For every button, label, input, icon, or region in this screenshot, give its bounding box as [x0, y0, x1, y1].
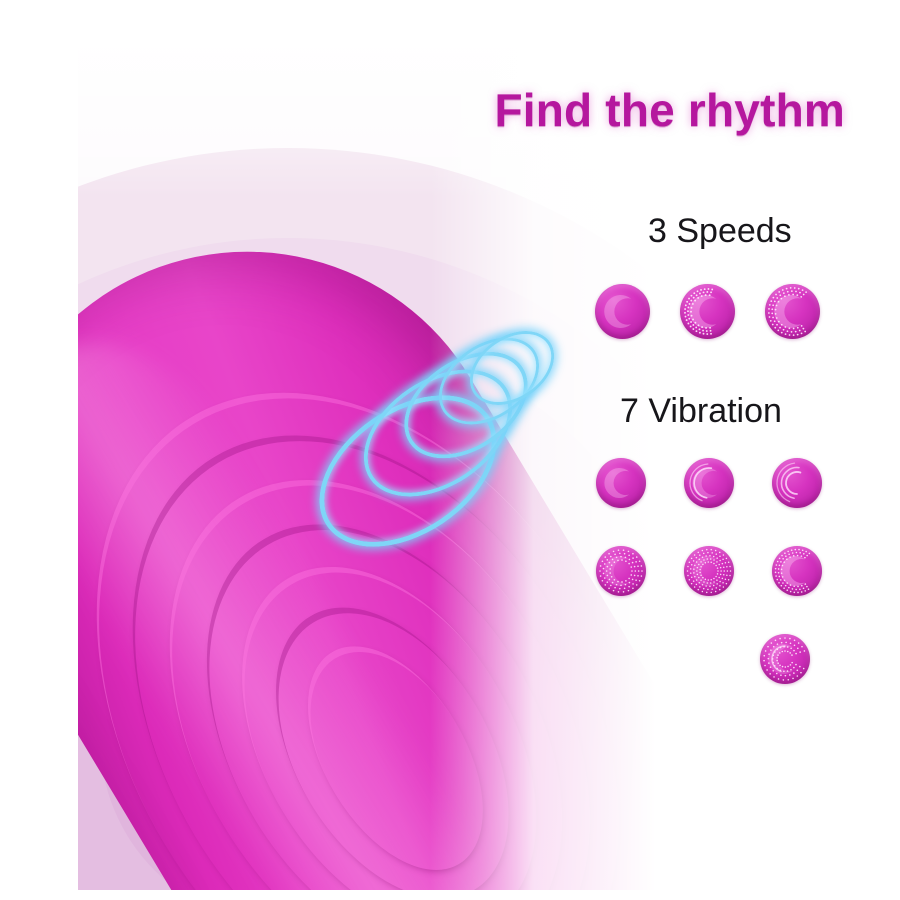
- vibration-icon-row-2: [596, 546, 822, 596]
- speed-level-2-icon[interactable]: [680, 284, 735, 339]
- speed-level-1-icon[interactable]: [595, 284, 650, 339]
- product-feature-image: Find the rhythm 3 Speeds 7 Vibration: [0, 0, 900, 900]
- vibration-mode-1-icon[interactable]: [596, 458, 646, 508]
- vibration-label: 7 Vibration: [620, 392, 782, 431]
- vibration-mode-7-icon[interactable]: [760, 634, 810, 684]
- vibration-mode-3-icon[interactable]: [772, 458, 822, 508]
- vibration-mode-4-icon[interactable]: [596, 546, 646, 596]
- speeds-label: 3 Speeds: [648, 212, 792, 251]
- vibration-icon-row-1: [596, 458, 822, 508]
- speed-level-3-icon[interactable]: [765, 284, 820, 339]
- vibration-mode-5-icon[interactable]: [684, 546, 734, 596]
- vibration-icon-row-3: [760, 634, 810, 684]
- vibration-mode-6-icon[interactable]: [772, 546, 822, 596]
- vibration-mode-2-icon[interactable]: [684, 458, 734, 508]
- cyan-vibration-coil: [310, 336, 580, 598]
- speeds-icon-row: [595, 284, 820, 339]
- page-title: Find the rhythm: [425, 86, 845, 134]
